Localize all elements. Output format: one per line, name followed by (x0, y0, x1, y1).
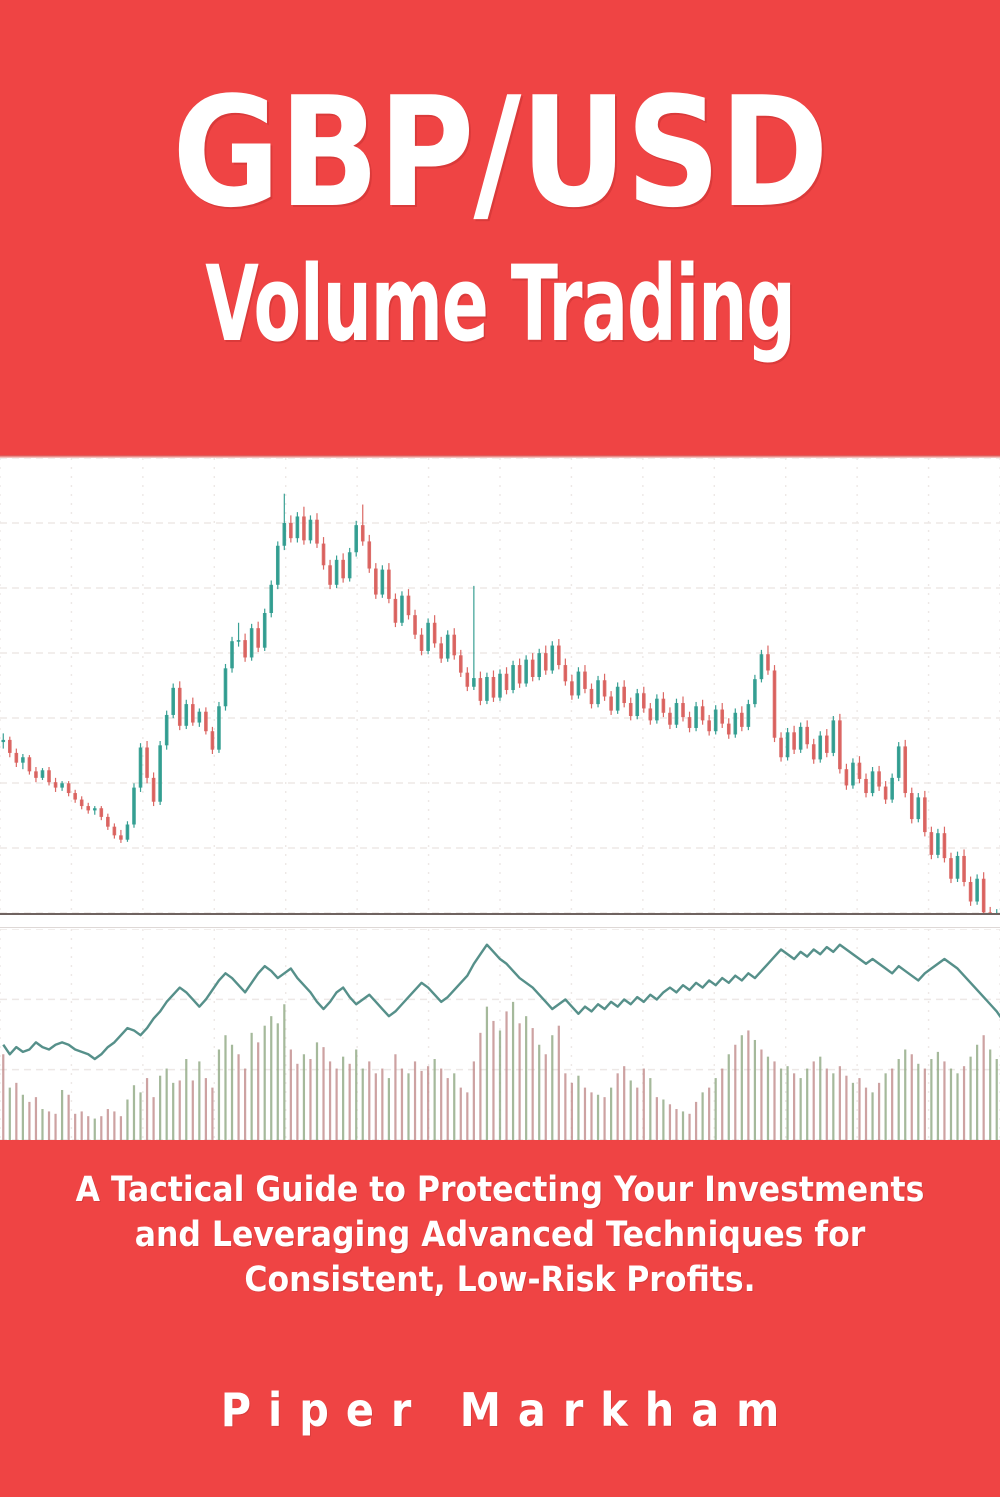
panel-divider-soft (0, 927, 1000, 928)
price-candlestick-panel (0, 458, 1000, 913)
subtitle-line-1: A Tactical Guide to Protecting Your Inve… (60, 1168, 940, 1213)
panel-divider (0, 913, 1000, 915)
author-name: Piper Markham (0, 1384, 1000, 1436)
footer-band: A Tactical Guide to Protecting Your Inve… (0, 1140, 1000, 1497)
volume-panel (0, 929, 1000, 1140)
cover-subtitle: A Tactical Guide to Protecting Your Inve… (60, 1168, 940, 1303)
subtitle-line-3: Consistent, Low-Risk Profits. (60, 1258, 940, 1303)
subtitle-line-2: and Leveraging Advanced Techniques for (60, 1213, 940, 1258)
volume-series (0, 929, 1000, 1140)
title-band: GBP/USD Volume Trading (0, 0, 1000, 455)
candlestick-series (0, 458, 1000, 913)
book-cover: GBP/USD Volume Trading A Tactical Guide … (0, 0, 1000, 1497)
trading-chart (0, 455, 1000, 1140)
book-title: GBP/USD (20, 78, 980, 228)
book-subtitle-title: Volume Trading (130, 248, 870, 360)
